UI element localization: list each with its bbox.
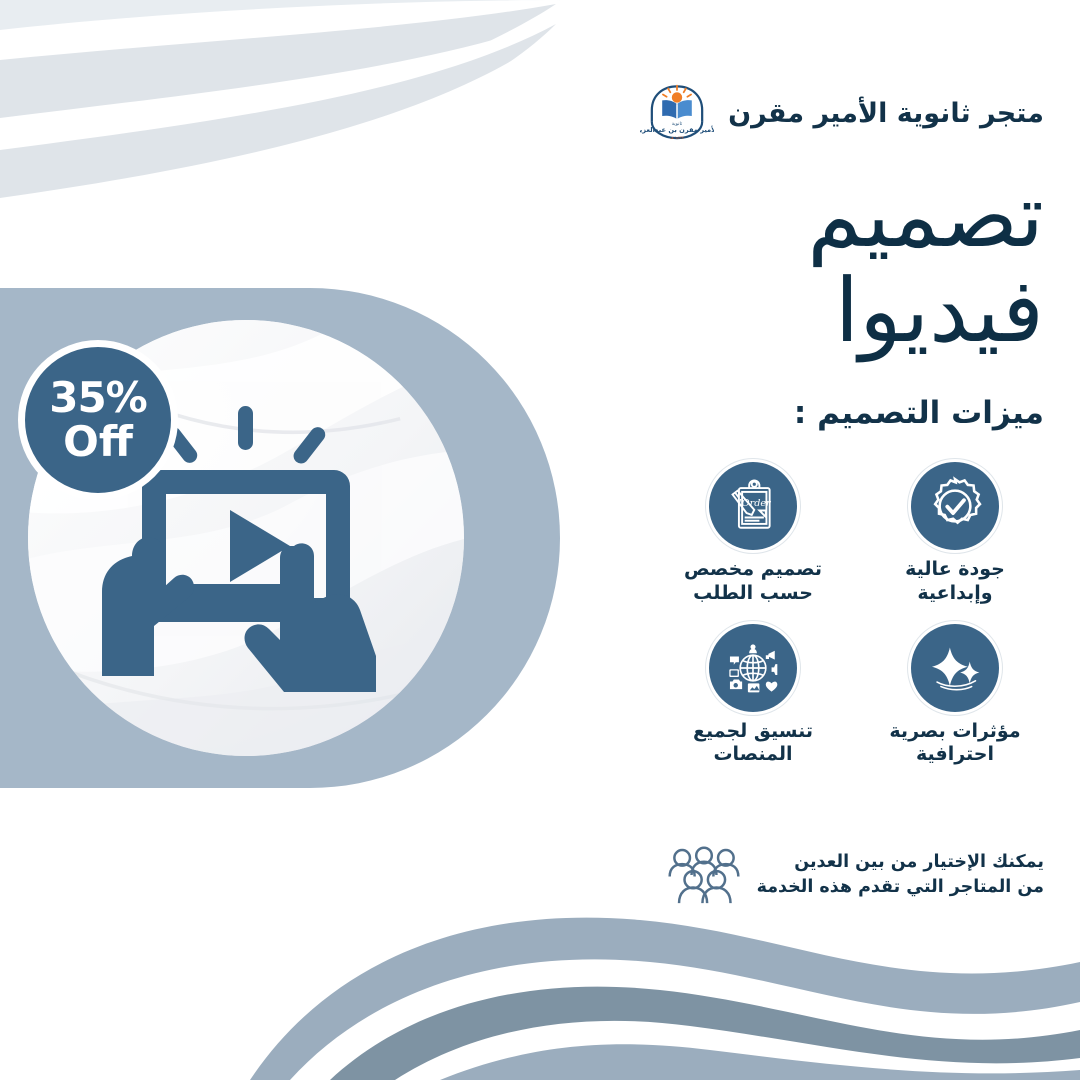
feature-platforms: تنسيق لجميع المنصات [664, 624, 842, 768]
sparkle-visual-effects-icon [911, 624, 999, 712]
logo-line-main: الأمير مقرن بن عبدالعزيز [640, 125, 714, 134]
footer-text: يمكنك الإختيار من بين العدين من المتاجر … [757, 850, 1044, 901]
page-title: تصميم فيديوا [564, 168, 1044, 358]
footer-note: يمكنك الإختيار من بين العدين من المتاجر … [665, 845, 1044, 905]
discount-off-label: Off [63, 421, 133, 463]
feature-custom-design-label: تصميم مخصص حسب الطلب [668, 558, 838, 606]
poster-canvas: 35% Off [0, 0, 1080, 1080]
logo-year: ١٤٣٧ هـ [669, 135, 684, 140]
group-people-icon [665, 845, 743, 905]
content-column: ثانوية الأمير مقرن بن عبدالعزيز ١٤٣٧ هـ … [564, 0, 1044, 1080]
headline-line-1: تصميم [807, 164, 1044, 267]
feature-visual-effects: مؤثرات بصرية احترافية [866, 624, 1044, 768]
feature-quality-label: جودة عالية وإبداعية [870, 558, 1040, 606]
feature-quality: جودة عالية وإبداعية [866, 462, 1044, 606]
features-grid: جودة عالية وإبداعية [664, 462, 1044, 767]
globe-social-platforms-icon [709, 624, 797, 712]
quality-badge-check-icon [911, 462, 999, 550]
feature-custom-design: Order! تصميم مخصص حسب الطلب [664, 462, 842, 606]
clipboard-order-pencil-icon: Order! [709, 462, 797, 550]
headline-line-2: فيديوا [564, 263, 1044, 358]
discount-percent: 35% [49, 377, 147, 419]
discount-badge: 35% Off [18, 340, 178, 500]
feature-platforms-label: تنسيق لجميع المنصات [668, 720, 838, 768]
brand-header: ثانوية الأمير مقرن بن عبدالعزيز ١٤٣٧ هـ … [640, 76, 1044, 150]
brand-name: متجر ثانوية الأمير مقرن [728, 98, 1044, 129]
features-heading: ميزات التصميم : [794, 395, 1044, 431]
feature-visual-effects-label: مؤثرات بصرية احترافية [870, 720, 1040, 768]
school-book-logo-icon: ثانوية الأمير مقرن بن عبدالعزيز ١٤٣٧ هـ [640, 76, 714, 150]
svg-text:Order!: Order! [738, 498, 772, 509]
